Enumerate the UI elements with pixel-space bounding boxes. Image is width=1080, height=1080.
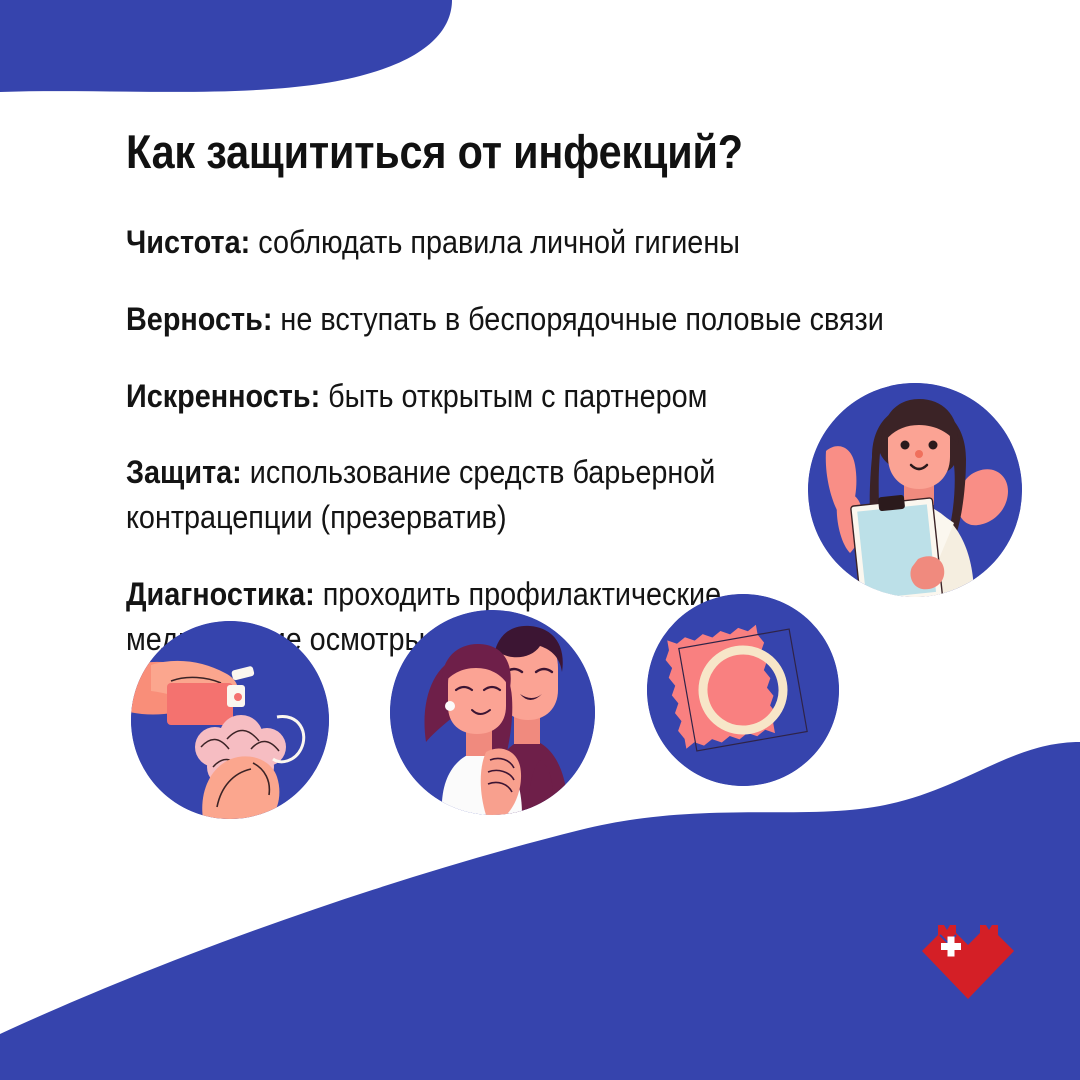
list-item-term: Диагностика: (126, 576, 315, 612)
eye-right (929, 441, 938, 450)
handwash-illustration (131, 621, 329, 819)
blue-wave-top-left (0, 0, 452, 92)
page-title: Как защититься от инфекций? (126, 127, 848, 176)
list-item-term: Защита: (126, 454, 242, 490)
list-item: Защита: использование средств барьерной … (126, 450, 792, 540)
list-item-desc: быть открытым с партнером (320, 378, 707, 414)
list-item-term: Чистота: (126, 224, 250, 260)
condom-illustration (647, 594, 839, 786)
soap-bottle (167, 683, 233, 725)
earring (445, 701, 455, 711)
cross-vertical (948, 937, 955, 957)
list-item: Верность: не вступать в беспорядочные по… (126, 297, 990, 342)
list-item-desc: соблюдать правила личной гигиены (250, 224, 740, 260)
list-item: Чистота: соблюдать правила личной гигиен… (126, 220, 990, 265)
heart-shape (922, 925, 1014, 999)
couple-illustration (390, 610, 595, 815)
pump-button (234, 693, 242, 701)
eye-left (901, 441, 910, 450)
list-item-term: Искренность: (126, 378, 320, 414)
list-item-term: Верность: (126, 301, 272, 337)
doctor-illustration (808, 383, 1022, 597)
poster-root: Как защититься от инфекций? Чистота: соб… (0, 0, 1080, 1080)
nose (915, 450, 923, 458)
medical-heart-logo[interactable] (916, 913, 1020, 1003)
list-item-desc: не вступать в беспорядочные половые связ… (272, 301, 883, 337)
